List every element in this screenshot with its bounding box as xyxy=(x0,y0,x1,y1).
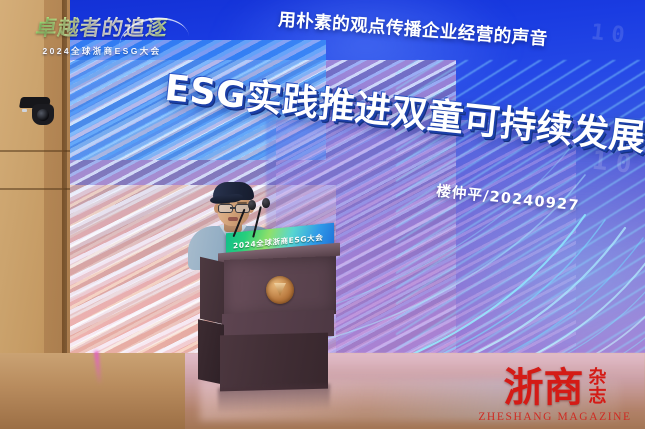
lectern-emblem-icon xyxy=(266,276,294,304)
wall-seam-upper xyxy=(0,150,70,152)
magazine-name-en: ZHESHANG MAGAZINE xyxy=(471,411,639,423)
speaker-glasses-bridge xyxy=(230,207,235,209)
event-logo-subtitle: 2024全球浙商ESG大会 xyxy=(22,45,182,57)
conference-photo: 10 10 卓越者的追逐 2024全球浙商ESG大会 用朴素的观点传播企业经营的… xyxy=(0,0,645,429)
lectern-base xyxy=(220,333,328,392)
security-camera-icon xyxy=(20,95,56,129)
microphone-head-right xyxy=(262,198,270,208)
event-logo: 卓越者的追逐 2024全球浙商ESG大会 xyxy=(22,12,182,57)
camera-lens xyxy=(37,109,49,121)
microphone-head-left xyxy=(248,200,256,210)
lectern: 2024全球浙商ESG大会 xyxy=(178,228,340,429)
speaker-glasses-left-lens xyxy=(218,204,233,213)
camera-indicator xyxy=(22,109,27,112)
floor-left-wood xyxy=(0,353,185,429)
speaker-mouth xyxy=(228,217,238,221)
lectern-floor-reflection xyxy=(218,384,330,414)
wall-edge-shadow xyxy=(62,0,67,392)
magazine-name-cn-line2: 志 xyxy=(589,388,607,407)
magazine-watermark-logo: 浙商 杂 志 ZHESHANG MAGAZINE xyxy=(471,368,639,423)
magazine-name-cn: 浙商 xyxy=(504,368,584,408)
wall-seam-mid xyxy=(0,188,70,190)
screen-ghost-numerals-top: 10 xyxy=(589,20,632,49)
